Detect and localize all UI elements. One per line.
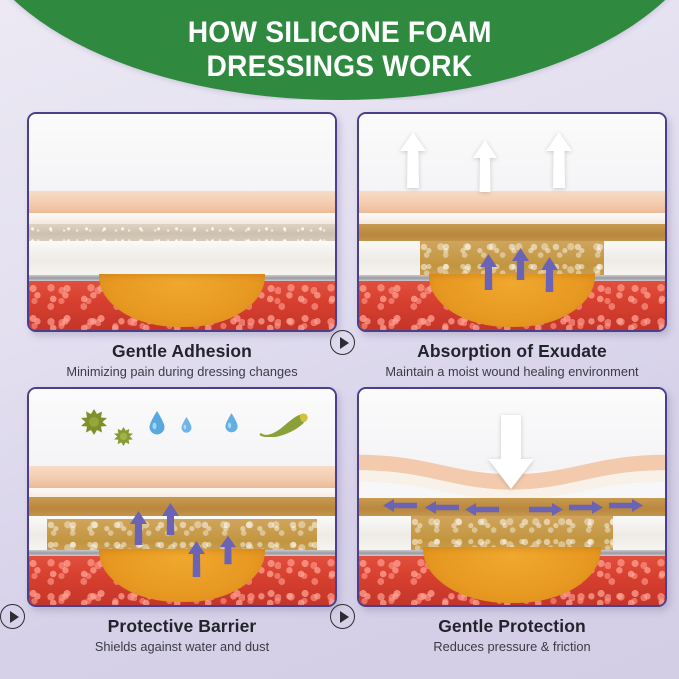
- infographic-page: HOW SILICONE FOAM DRESSINGS WORK Gentle …: [0, 0, 679, 679]
- panel-absorption-of-exudate[interactable]: Absorption of Exudate Maintain a moist w…: [357, 112, 667, 380]
- panel-illustration-2: [357, 112, 667, 332]
- panel-illustration-1: [27, 112, 337, 332]
- panel-gentle-adhesion[interactable]: Gentle Adhesion Minimizing pain during d…: [27, 112, 337, 380]
- layer-skin-1: [29, 191, 335, 215]
- connector-2-to-3[interactable]: [0, 604, 25, 629]
- water-droplet-icon: [225, 413, 238, 433]
- exudate-uptake-arrow-icon: [479, 254, 498, 290]
- exudate-uptake-arrow-icon: [129, 511, 148, 545]
- panel-illustration-3: [27, 387, 337, 607]
- panel-subtitle-3: Shields against water and dust: [27, 639, 337, 655]
- panel-protective-barrier[interactable]: Protective Barrier Shields against water…: [27, 387, 337, 655]
- connector-1-to-2[interactable]: [330, 330, 355, 355]
- panel-title-3: Protective Barrier: [27, 616, 337, 638]
- panel-grid: Gentle Adhesion Minimizing pain during d…: [0, 112, 679, 672]
- virus-germ-icon: [81, 409, 107, 435]
- panel-title-2: Absorption of Exudate: [357, 341, 667, 363]
- panel-title-1: Gentle Adhesion: [27, 341, 337, 363]
- pressure-dispersion-arrow-left-icon: [425, 501, 459, 514]
- bacteria-rod-icon: [257, 411, 309, 437]
- water-droplet-icon: [149, 411, 165, 435]
- layer-skin-2: [359, 191, 665, 215]
- connector-3-to-4[interactable]: [330, 604, 355, 629]
- virus-germ-icon: [114, 427, 133, 446]
- layer-air-1: [29, 114, 335, 196]
- water-droplet-icon: [181, 417, 192, 433]
- pressure-dispersion-arrow-left-icon: [465, 503, 499, 516]
- panel-illustration-4: [357, 387, 667, 607]
- panel-subtitle-4: Reduces pressure & friction: [357, 639, 667, 655]
- page-title-line-2: DRESSINGS WORK: [207, 51, 473, 83]
- exudate-uptake-arrow-icon: [219, 535, 237, 565]
- panel-gentle-protection[interactable]: Gentle Protection Reduces pressure & fri…: [357, 387, 667, 655]
- pressure-arrow-down-icon: [487, 415, 535, 489]
- play-circle-icon: [10, 611, 19, 623]
- pressure-dispersion-arrow-left-icon: [383, 499, 417, 512]
- page-title: HOW SILICONE FOAM DRESSINGS WORK: [0, 0, 679, 100]
- panel-subtitle-2: Maintain a moist wound healing environme…: [357, 364, 667, 380]
- caption-4: Gentle Protection Reduces pressure & fri…: [357, 616, 667, 655]
- layer-adhesive-texture-1: [29, 224, 335, 242]
- panel-subtitle-1: Minimizing pain during dressing changes: [27, 364, 337, 380]
- layer-foam-1: [29, 241, 335, 276]
- play-circle-icon: [340, 611, 349, 623]
- layer-exudate-band-3: [29, 497, 335, 519]
- vapor-arrow-up-icon: [399, 132, 427, 188]
- exudate-uptake-arrow-icon: [511, 248, 530, 280]
- panel-title-4: Gentle Protection: [357, 616, 667, 638]
- caption-2: Absorption of Exudate Maintain a moist w…: [357, 341, 667, 380]
- layer-skin-3: [29, 466, 335, 490]
- vapor-arrow-up-icon: [472, 140, 498, 192]
- caption-3: Protective Barrier Shields against water…: [27, 616, 337, 655]
- caption-1: Gentle Adhesion Minimizing pain during d…: [27, 341, 337, 380]
- exudate-uptake-arrow-icon: [187, 541, 206, 577]
- exudate-uptake-arrow-icon: [540, 257, 559, 292]
- pressure-dispersion-arrow-right-icon: [569, 501, 603, 514]
- exudate-uptake-arrow-icon: [161, 503, 180, 535]
- page-title-line-1: HOW SILICONE FOAM: [187, 17, 491, 49]
- pressure-dispersion-arrow-right-icon: [609, 499, 643, 512]
- pressure-dispersion-arrow-right-icon: [529, 503, 563, 516]
- play-circle-icon: [340, 337, 349, 349]
- vapor-arrow-up-icon: [545, 132, 573, 188]
